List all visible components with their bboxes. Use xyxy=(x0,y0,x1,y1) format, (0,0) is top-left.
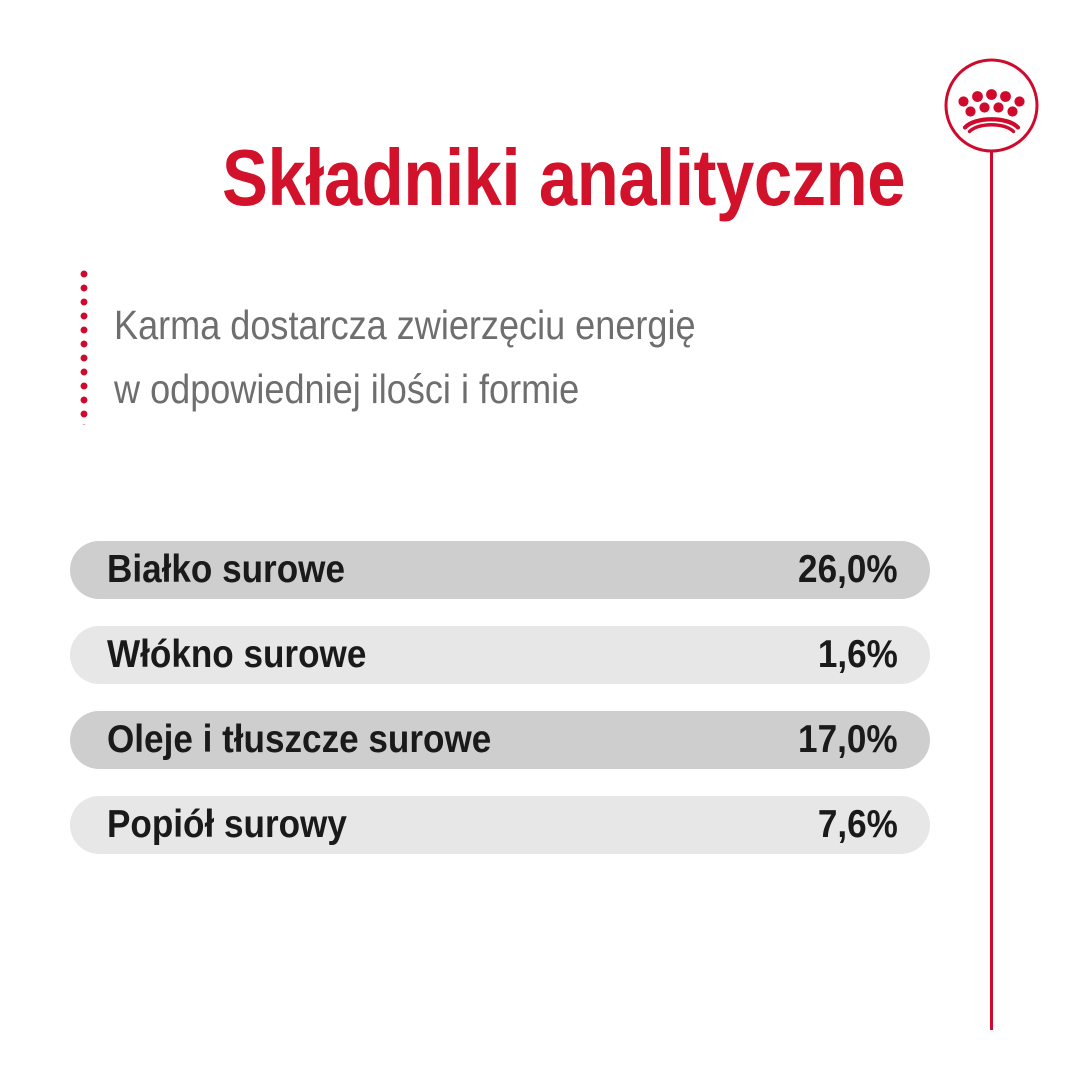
nutrient-value: 17,0% xyxy=(798,711,898,769)
table-row: Popiół surowy 7,6% xyxy=(70,796,930,854)
nutrient-label: Oleje i tłuszcze surowe xyxy=(107,711,491,769)
nutrient-label: Białko surowe xyxy=(107,541,345,599)
nutrient-label: Włókno surowe xyxy=(107,626,366,684)
table-row: Włókno surowe 1,6% xyxy=(70,626,930,684)
intro-line-2: w odpowiedniej ilości i formie xyxy=(114,357,730,421)
table-row: Białko surowe 26,0% xyxy=(70,541,930,599)
nutrient-value: 1,6% xyxy=(818,626,898,684)
royal-canin-crown-logo xyxy=(944,58,1039,153)
dotted-accent-line xyxy=(80,270,88,425)
analytical-constituents-card: Składniki analityczne Karma dostarcza zw… xyxy=(0,0,1080,1080)
nutrient-table: Białko surowe 26,0% Włókno surowe 1,6% O… xyxy=(70,541,930,854)
intro-paragraph: Karma dostarcza zwierzęciu energię w odp… xyxy=(114,293,730,421)
vertical-accent-line xyxy=(990,152,993,1030)
nutrient-value: 26,0% xyxy=(798,541,898,599)
crown-logo-svg xyxy=(944,58,1039,153)
intro-line-1: Karma dostarcza zwierzęciu energię xyxy=(114,293,730,357)
nutrient-label: Popiół surowy xyxy=(107,796,347,854)
page-title: Składniki analityczne xyxy=(222,138,905,218)
nutrient-value: 7,6% xyxy=(818,796,898,854)
table-row: Oleje i tłuszcze surowe 17,0% xyxy=(70,711,930,769)
